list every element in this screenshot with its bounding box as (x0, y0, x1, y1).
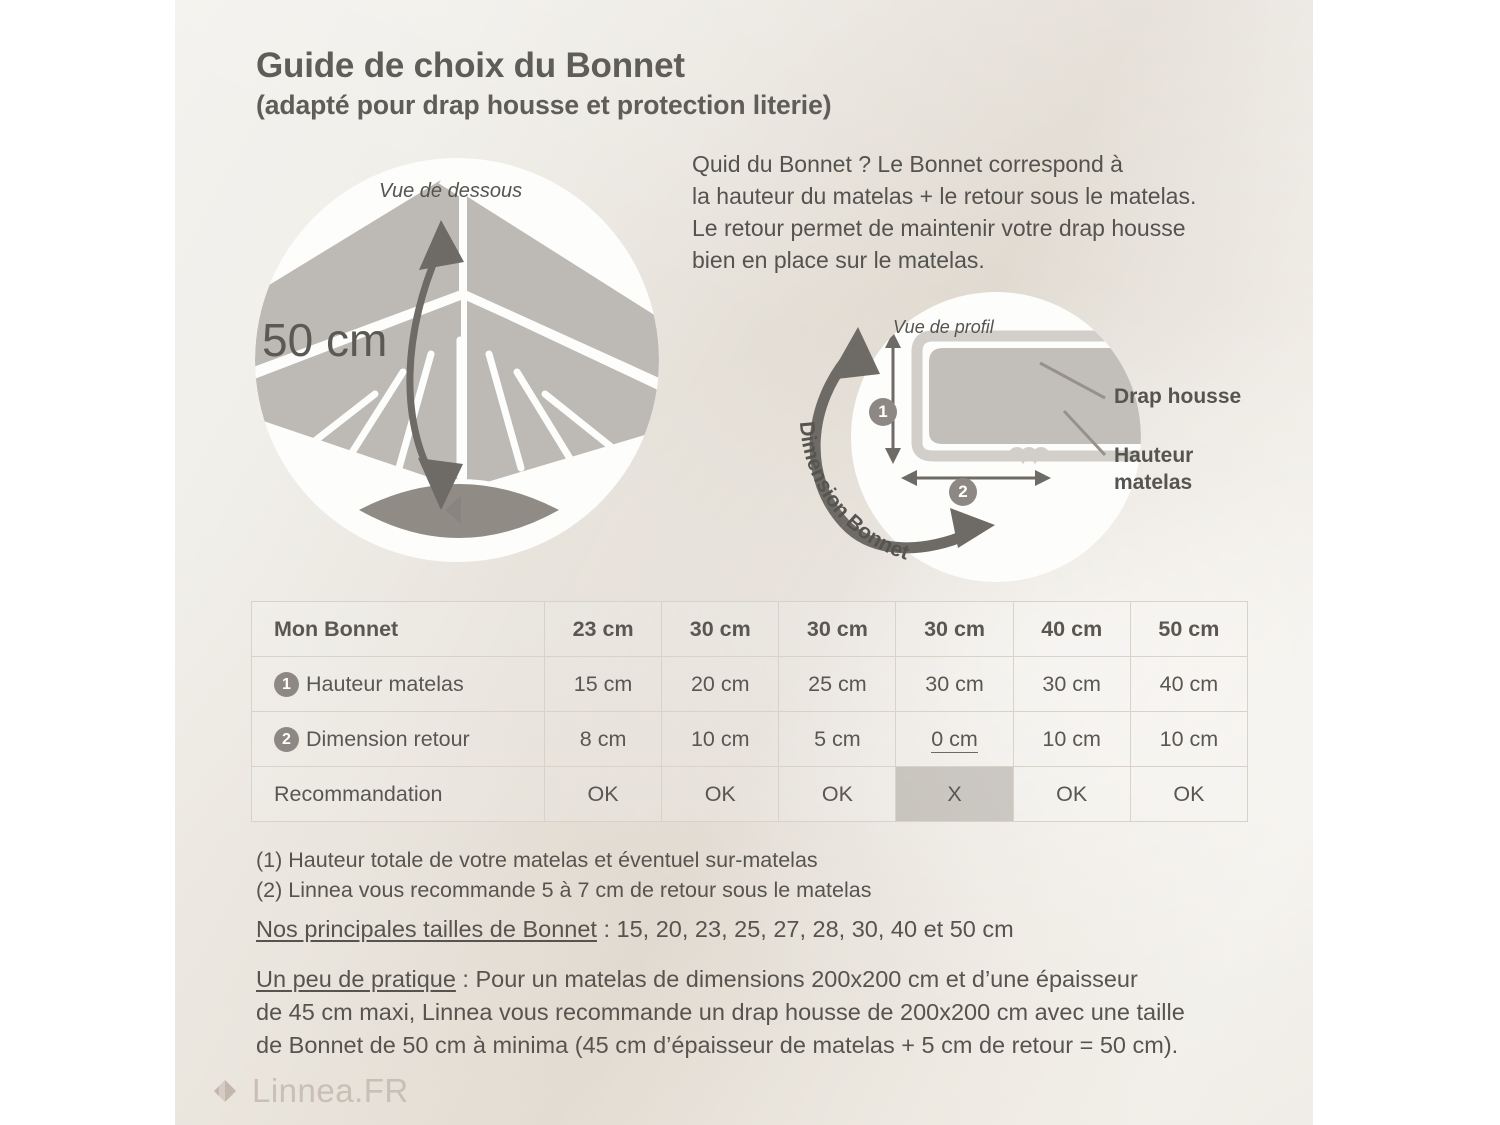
table-row-header: Mon Bonnet 23 cm 30 cm 30 cm 30 cm 40 cm… (252, 602, 1248, 657)
footnotes: (1) Hauteur totale de votre matelas et é… (256, 845, 871, 905)
cell-height-1: 20 cm (662, 657, 779, 712)
row-label-dimension-retour: 2Dimension retour (252, 712, 545, 767)
principal-sizes-line: Nos principales tailles de Bonnet : 15, … (256, 916, 1014, 943)
cell-tuck-4: 10 cm (1013, 712, 1130, 767)
cell-height-2: 25 cm (779, 657, 896, 712)
table-row-mattress-height: 1Hauteur matelas 15 cm 20 cm 25 cm 30 cm… (252, 657, 1248, 712)
cell-tuck-5-text: 10 cm (1160, 727, 1219, 751)
cell-height-3: 30 cm (896, 657, 1013, 712)
callout-hauteur-line2: matelas (1114, 469, 1193, 496)
callout-hauteur-matelas: Hauteur matelas (1114, 442, 1193, 496)
cell-tuck-2: 5 cm (779, 712, 896, 767)
table-row-tuck-dimension: 2Dimension retour 8 cm 10 cm 5 cm 0 cm 1… (252, 712, 1248, 767)
cell-reco-0: OK (545, 767, 662, 822)
intro-paragraph: Quid du Bonnet ? Le Bonnet correspond à … (692, 148, 1272, 276)
row-label-recommandation: Recommandation (252, 767, 545, 822)
leader-line-drap-housse (1040, 363, 1105, 398)
table-row-recommendation: Recommandation OK OK OK X OK OK (252, 767, 1248, 822)
practice-line-1-rest: : Pour un matelas de dimensions 200x200 … (456, 966, 1138, 992)
row-label-hauteur-matelas-text: Hauteur matelas (306, 672, 464, 696)
cell-reco-2: OK (779, 767, 896, 822)
cell-bonnet-4: 40 cm (1013, 602, 1130, 657)
intro-line-3: Le retour permet de maintenir votre drap… (692, 212, 1272, 244)
cell-bonnet-0: 23 cm (545, 602, 662, 657)
cell-bonnet-5: 50 cm (1130, 602, 1247, 657)
cell-tuck-1: 10 cm (662, 712, 779, 767)
cell-bonnet-2: 30 cm (779, 602, 896, 657)
principal-sizes-label: Nos principales tailles de Bonnet (256, 916, 597, 942)
practice-line-1: Un peu de pratique : Pour un matelas de … (256, 963, 1246, 996)
leader-line-hauteur-matelas (1064, 411, 1105, 455)
cell-height-4: 30 cm (1013, 657, 1130, 712)
cell-bonnet-1: 30 cm (662, 602, 779, 657)
label-dimension-bonnet: Dimension Bonnet (795, 420, 912, 564)
intro-line-4: bien en place sur le matelas. (692, 244, 1272, 276)
bonnet-recommendation-table: Mon Bonnet 23 cm 30 cm 30 cm 30 cm 40 cm… (251, 601, 1248, 822)
page-subtitle: (adapté pour drap housse et protection l… (256, 90, 831, 121)
row-label-hauteur-matelas: 1Hauteur matelas (252, 657, 545, 712)
row-label-mon-bonnet: Mon Bonnet (252, 602, 545, 657)
footnote-2: (2) Linnea vous recommande 5 à 7 cm de r… (256, 875, 871, 905)
practice-line-3: de Bonnet de 50 cm à minima (45 cm d’épa… (256, 1029, 1246, 1062)
cell-tuck-0: 8 cm (545, 712, 662, 767)
cell-reco-5: OK (1130, 767, 1247, 822)
logo-text: Linnea.FR (252, 1072, 409, 1110)
practice-line-2: de 45 cm maxi, Linnea vous recommande un… (256, 996, 1246, 1029)
intro-line-1: Quid du Bonnet ? Le Bonnet correspond à (692, 148, 1272, 180)
cell-height-5: 40 cm (1130, 657, 1247, 712)
badge-1-table: 1 (274, 672, 299, 697)
cell-tuck-3-text: 0 cm (931, 727, 978, 753)
footnote-1: (1) Hauteur totale de votre matelas et é… (256, 845, 871, 875)
practice-paragraph: Un peu de pratique : Pour un matelas de … (256, 963, 1246, 1062)
cell-height-0: 15 cm (545, 657, 662, 712)
row-label-dimension-retour-text: Dimension retour (306, 727, 470, 751)
cell-tuck-0-text: 8 cm (580, 727, 627, 751)
cell-bonnet-3: 30 cm (896, 602, 1013, 657)
callout-hauteur-line1: Hauteur (1114, 442, 1193, 469)
badge-2-table: 2 (274, 727, 299, 752)
cell-tuck-3: 0 cm (896, 712, 1013, 767)
intro-line-2: la hauteur du matelas + le retour sous l… (692, 180, 1272, 212)
page-title: Guide de choix du Bonnet (256, 46, 685, 86)
logo[interactable]: Linnea.FR (210, 1072, 409, 1110)
practice-label: Un peu de pratique (256, 966, 456, 992)
cell-reco-4: OK (1013, 767, 1130, 822)
dimension-arrow-head-up (828, 327, 880, 380)
cell-tuck-1-text: 10 cm (691, 727, 750, 751)
callout-drap-housse: Drap housse (1114, 383, 1241, 410)
principal-sizes-value: : 15, 20, 23, 25, 27, 28, 30, 40 et 50 c… (597, 916, 1014, 942)
cell-reco-3: X (896, 767, 1013, 822)
infographic-root: Vue de dessous 50 cm (0, 0, 1500, 1125)
cell-tuck-4-text: 10 cm (1042, 727, 1101, 751)
diamond-logo-icon (210, 1076, 240, 1106)
cell-tuck-5: 10 cm (1130, 712, 1247, 767)
cell-tuck-2-text: 5 cm (814, 727, 861, 751)
cell-reco-1: OK (662, 767, 779, 822)
